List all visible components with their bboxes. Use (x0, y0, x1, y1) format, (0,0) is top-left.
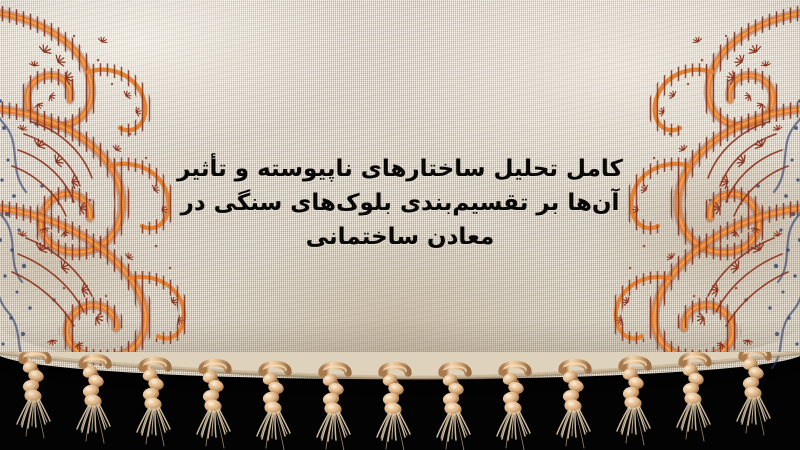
cloth-hem-shadow (0, 319, 800, 379)
title-card-canvas: کامل تحلیل ساختارهای ناپیوسته و تأثیر آن… (0, 0, 800, 450)
linen-cloth (0, 0, 800, 379)
